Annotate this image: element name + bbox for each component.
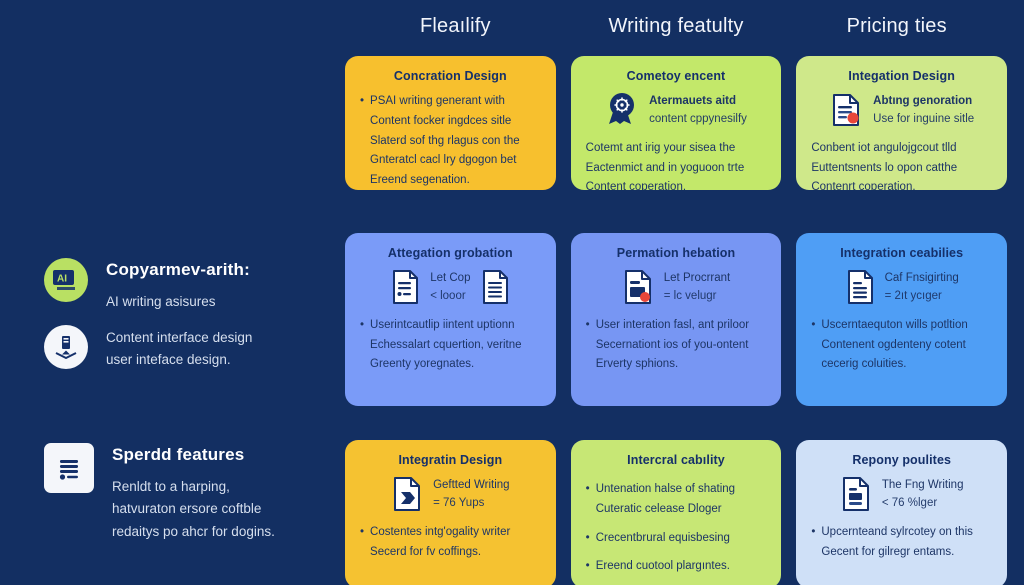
bullet-text: Userintcautlip iintent uptionn Echessala… [370,316,541,375]
bullet-text: Cotemt ant irig your sisea the Eactenmic… [586,142,745,190]
card-icon-row: Atermauets aitd content cppynesilfy [586,92,767,129]
icon-line-1: Let Cop [430,272,470,284]
card-icon-row: Caf Fnsigirting = 2ıt ycıger [811,269,992,306]
bullet-dot: • [586,480,590,520]
icon-line-2: = lc velugr [664,290,717,302]
rail-item-sub: Content interface design user inteface d… [106,327,252,372]
card-body: Cotemt ant irig your sisea the Eactenmic… [586,139,767,190]
document-play-icon [391,476,423,512]
rail-item-sub: AI writing asisures [106,291,250,313]
bullet-dot: • [360,316,364,375]
document-fill-icon [840,476,872,512]
card-row-1: Concration Design • PSAI writing generan… [345,56,1007,190]
award-ribbon-icon [605,92,639,128]
rail-item-content-interface[interactable]: Content interface design user inteface d… [44,325,334,372]
card-title: Integation Design [811,69,992,83]
card-title: Permation hebation [586,246,767,260]
bullet-dot: • [360,92,364,190]
svg-text:AI: AI [57,274,67,285]
rail-item-text: Copyarmev-arith: AI writing asisures [106,258,250,313]
card-intercral-cability[interactable]: Intercral cabılity • Untenation halse of… [571,440,782,585]
column-header-1: Writing featulty [566,0,787,52]
card-icon-lines: Atermauets aitd content cppynesilfy [649,92,747,129]
card-icon-lines: Let Procrrant = lc velugr [664,269,730,306]
document-alert-icon [829,92,863,128]
icon-line-1: The Fng Writing [882,479,964,491]
bullet-dot: • [360,523,364,563]
card-repony-poulites[interactable]: Repony poulites The Fng Writing < 76 %lg… [796,440,1007,585]
column-header-2: Pricing ties [786,0,1007,52]
card-icon-row: Abtıng genoration Use for inguine sitle [811,92,992,129]
card-row-2: Attegation grobation Let Cop < looor [345,233,1007,406]
icon-line-2: content cppynesilfy [649,113,747,125]
icon-line-2: = 2ıt ycıger [885,290,942,302]
bullet-dot: • [586,316,590,375]
rail-item-text: Content interface design user inteface d… [106,325,252,372]
card-icon-lines: Abtıng genoration Use for inguine sitle [873,92,974,129]
building-upload-icon [44,325,88,369]
bullet-dot: • [811,523,815,563]
bullet-text: Crecentbrural equisbesing [596,529,730,549]
card-integratin-design[interactable]: Integratin Design Geftted Writing = 76 Y… [345,440,556,585]
card-icon-lines: Geftted Writing = 76 Yups [433,476,510,513]
bullet-text: Upcernteand sylrcotey on this Gecent for… [821,523,992,563]
icon-line-2: < 76 %lger [882,497,937,509]
card-grid: Concration Design • PSAI writing generan… [345,52,1007,585]
card-icon-row: Let Procrrant = lc velugr [586,269,767,306]
two-documents-icon-secondary [480,269,510,305]
rail-item-ai-writing[interactable]: AI Copyarmev-arith: AI writing asisures [44,258,334,313]
rail-item-text: Sperdd features Renldt to a harping, hat… [112,443,275,543]
icon-line-1: Geftted Writing [433,479,510,491]
bullet-text: PSAI writing generant with Content focke… [370,92,541,190]
bullet-dot: • [811,316,815,375]
card-title: Intercral cabılity [586,453,767,467]
ai-badge-icon: AI [44,258,88,302]
card-icon-lines: Let Cop < looor [430,269,470,306]
card-body: Conbent iot angulojgcout tlld Euttentsne… [811,139,992,190]
icon-line-2: Use for inguine sitle [873,113,974,125]
column-headers: Fleaılify Writing featulty Pricing ties [345,0,1007,52]
card-concration-design[interactable]: Concration Design • PSAI writing generan… [345,56,556,190]
rail-item-title: Sperdd features [112,445,275,465]
card-cometoy-encent[interactable]: Cometoy encent Atermauets aitd content c… [571,56,782,190]
left-rail: AI Copyarmev-arith: AI writing asisures … [0,0,345,585]
column-header-0: Fleaılify [345,0,566,52]
card-body: • Userintcautlip iintent uptionn Echessa… [360,316,541,375]
bullet-dot: • [586,557,590,577]
card-integration-ceabilies[interactable]: Integration ceabilies Caf Fnsigirting = … [796,233,1007,406]
card-title: Attegation grobation [360,246,541,260]
rail-item-title: Copyarmev-arith: [106,260,250,280]
bullet-text: User interation fasl, ant priloor Secern… [596,316,767,375]
icon-line-2: < looor [430,290,465,302]
card-body: • Costentes intg'ogality writer Secerd f… [360,523,541,563]
card-title: Integratin Design [360,453,541,467]
card-attegation-grobation[interactable]: Attegation grobation Let Cop < looor [345,233,556,406]
card-permation-hebation[interactable]: Permation hebation Let Procrrant = lc ve… [571,233,782,406]
icon-line-1: Abtıng genoration [873,95,972,107]
bullet-text: Ereend cuotool plargıntes. [596,557,730,577]
bullet-dot: • [586,529,590,549]
document-lines-icon [845,269,875,305]
card-integation-design[interactable]: Integation Design Abtıng genoration Use … [796,56,1007,190]
bullet-text: Costentes intg'ogality writer Secerd for… [370,523,541,563]
card-icon-row: Let Cop < looor [360,269,541,306]
card-title: Repony poulites [811,453,992,467]
card-icon-row: The Fng Writing < 76 %lger [811,476,992,513]
icon-line-2: = 76 Yups [433,497,484,509]
icon-line-1: Let Procrrant [664,272,730,284]
card-title: Cometoy encent [586,69,767,83]
card-icon-row: Geftted Writing = 76 Yups [360,476,541,513]
card-icon-lines: The Fng Writing < 76 %lger [882,476,964,513]
icon-line-1: Caf Fnsigirting [885,272,959,284]
card-icon-lines: Caf Fnsigirting = 2ıt ycıger [885,269,959,306]
card-body: • Upcernteand sylrcotey on this Gecent f… [811,523,992,563]
card-title: Integration ceabilies [811,246,992,260]
bullet-text: Conbent iot angulojgcout tlld Euttentsne… [811,142,957,190]
two-documents-icon [390,269,420,305]
bullet-text: Untenation halse of shating Cuteratic ce… [596,480,767,520]
rail-item-sub: Renldt to a harping, hatvuraton ersore c… [112,476,275,543]
document-alert-icon [622,269,654,305]
card-body: • User interation fasl, ant priloor Sece… [586,316,767,375]
document-lines-icon [44,443,94,493]
card-body: • Untenation halse of shating Cuteratic … [586,480,767,577]
card-body: • Uscerntaequton wills potltion Contenen… [811,316,992,375]
icon-line-1: Atermauets aitd [649,95,736,107]
rail-item-speed-features[interactable]: Sperdd features Renldt to a harping, hat… [44,443,334,543]
card-row-3: Integratin Design Geftted Writing = 76 Y… [345,440,1007,585]
card-body: • PSAI writing generant with Content foc… [360,92,541,190]
bullet-text: Uscerntaequton wills potltion Contenent … [821,316,992,375]
card-title: Concration Design [360,69,541,83]
